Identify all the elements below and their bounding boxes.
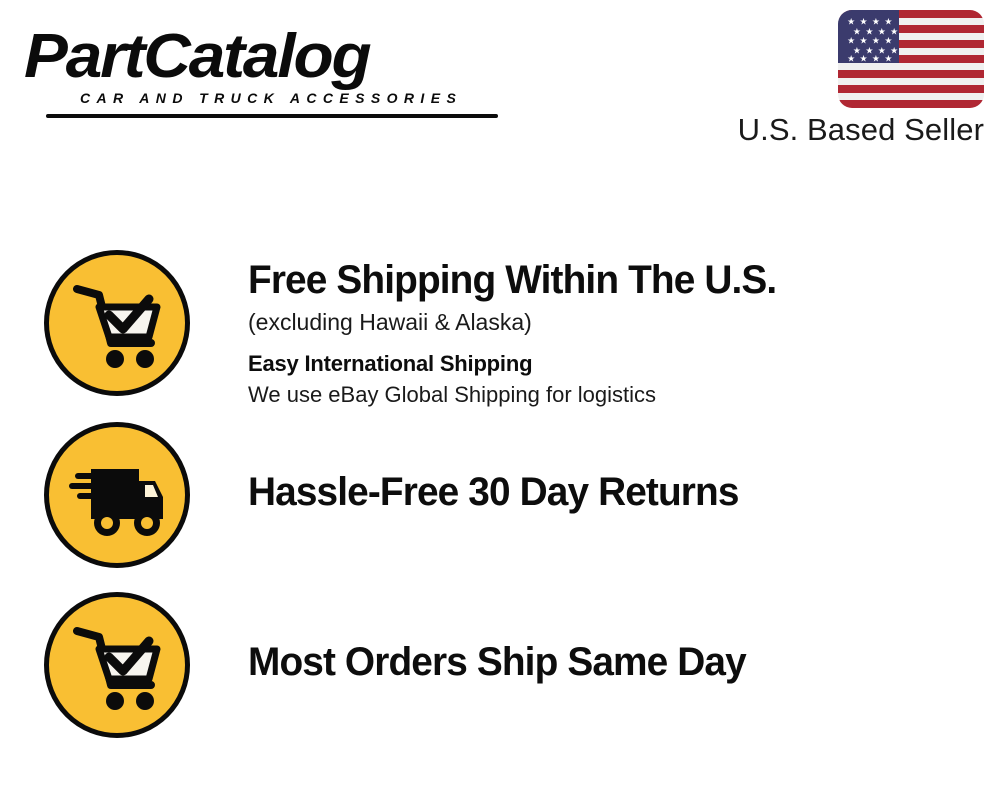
flag-star: ★ xyxy=(884,37,892,46)
feature-text-block: Hassle-Free 30 Day Returns xyxy=(190,422,984,516)
feature-row: Hassle-Free 30 Day Returns xyxy=(44,422,984,568)
flag-stripe xyxy=(838,85,984,93)
flag-star: ★ xyxy=(872,37,880,46)
flag-star: ★ xyxy=(847,37,855,46)
flag-star: ★ xyxy=(872,17,880,26)
feature-heading: Most Orders Ship Same Day xyxy=(248,638,962,686)
flag-star: ★ xyxy=(847,55,855,64)
delivery-truck-icon xyxy=(44,422,190,568)
feature-heading: Free Shipping Within The U.S. xyxy=(248,256,962,304)
feature-row: Free Shipping Within The U.S. (excluding… xyxy=(44,250,984,410)
flag-star: ★ xyxy=(860,55,868,64)
flag-stripe xyxy=(838,70,984,78)
shopping-cart-check-icon xyxy=(44,592,190,738)
shopping-cart-check-icon xyxy=(44,250,190,396)
brand-wordmark: PartCatalog xyxy=(24,26,522,88)
us-based-seller-label: U.S. Based Seller xyxy=(714,112,984,148)
brand-underline-swoosh xyxy=(46,114,498,118)
us-flag-icon: ★ ★ ★ ★ ★ ★ ★ ★ ★ ★ ★ ★ ★ ★ ★ ★ ★ ★ ★ ★ xyxy=(838,10,984,108)
feature-subheading: Easy International Shipping xyxy=(248,350,984,378)
flag-stripe xyxy=(838,93,984,101)
flag-stripe xyxy=(838,78,984,86)
feature-subnote: We use eBay Global Shipping for logistic… xyxy=(248,380,984,410)
flag-star: ★ xyxy=(847,17,855,26)
feature-text-block: Free Shipping Within The U.S. (excluding… xyxy=(190,250,984,410)
flag-star: ★ xyxy=(865,27,873,36)
flag-star: ★ xyxy=(872,55,880,64)
flag-star: ★ xyxy=(884,55,892,64)
flag-star: ★ xyxy=(860,37,868,46)
feature-note: (excluding Hawaii & Alaska) xyxy=(248,307,984,337)
brand-tagline: CAR AND TRUCK ACCESSORIES xyxy=(80,90,494,106)
feature-heading: Hassle-Free 30 Day Returns xyxy=(248,468,962,516)
flag-star: ★ xyxy=(853,27,861,36)
flag-star: ★ xyxy=(890,27,898,36)
flag-star: ★ xyxy=(884,17,892,26)
flag-stripe xyxy=(838,63,984,71)
brand-logo: PartCatalog CAR AND TRUCK ACCESSORIES xyxy=(24,26,494,116)
feature-text-block: Most Orders Ship Same Day xyxy=(190,592,984,686)
flag-star: ★ xyxy=(860,17,868,26)
flag-stripe xyxy=(838,100,984,108)
feature-row: Most Orders Ship Same Day xyxy=(44,592,984,738)
flag-star: ★ xyxy=(878,27,886,36)
us-based-seller-badge: ★ ★ ★ ★ ★ ★ ★ ★ ★ ★ ★ ★ ★ ★ ★ ★ ★ ★ ★ ★ … xyxy=(714,10,984,148)
